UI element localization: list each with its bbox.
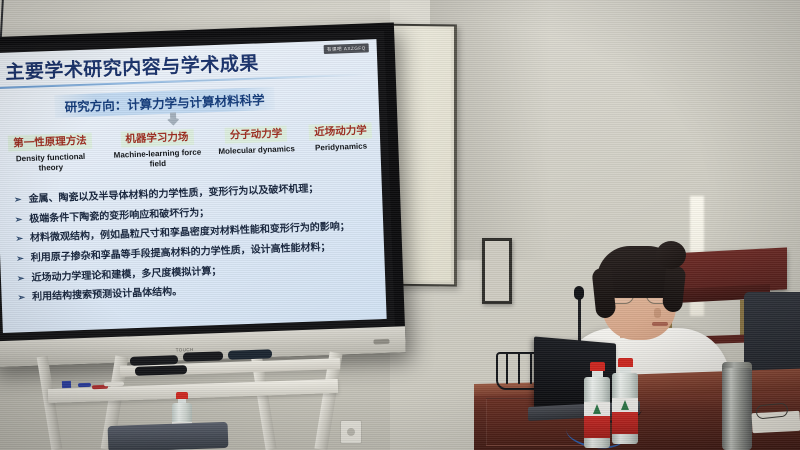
category-label-cn: 近场动力学	[309, 122, 372, 140]
bottle-cap	[176, 392, 188, 399]
presenter-mouth	[652, 322, 668, 326]
remote-control[interactable]	[135, 365, 187, 376]
category-item: 机器学习力场 Machine-learning force field	[111, 129, 204, 171]
pine-tree-icon	[621, 400, 629, 410]
slide-subtitle: 研究方向：计算力学与计算材料科学	[54, 87, 275, 118]
bottle-cap	[590, 362, 605, 371]
category-label-en: Molecular dynamics	[218, 144, 295, 156]
thermos-flask	[722, 368, 752, 450]
bullet-text: 极端条件下陶瓷的变形响应和破坏行为；	[29, 207, 209, 225]
remote-control[interactable]	[183, 351, 223, 361]
presenter-hair-right	[662, 265, 687, 313]
bullet-text: 金属、陶瓷以及半导体材料的力学性质，变形行为以及破坏机理；	[28, 183, 318, 205]
category-item: 第一性原理方法 Density functional theory	[4, 132, 97, 174]
pine-tree-icon	[593, 404, 601, 414]
arrow-head	[166, 118, 180, 126]
bullet-marker-icon: ➢	[15, 214, 23, 225]
water-bottle-1	[584, 362, 610, 448]
presenter-hair-bun	[656, 241, 686, 269]
category-label-cn: 机器学习力场	[120, 129, 194, 148]
watermark-badge: 有课吧 AXZGFQ	[324, 43, 369, 54]
bottle-cap	[618, 358, 633, 367]
category-label-cn: 第一性原理方法	[8, 133, 92, 152]
category-item: 分子动力学 Molecular dynamics	[218, 125, 295, 156]
equipment-case	[108, 422, 229, 450]
remote-control[interactable]	[130, 355, 178, 366]
bullet-marker-icon: ➢	[15, 234, 23, 245]
socket-hole-icon	[347, 428, 355, 436]
framed-picture	[482, 238, 512, 304]
category-item: 近场动力学 Peridynamics	[309, 122, 373, 153]
water-bottle-2	[612, 358, 638, 444]
marker-pen-blue[interactable]	[78, 383, 91, 387]
category-label-cn: 分子动力学	[225, 125, 288, 143]
power-socket[interactable]	[340, 420, 362, 444]
category-label-en: Density functional theory	[4, 152, 97, 175]
bullet-marker-icon: ➢	[16, 253, 24, 264]
bullet-marker-icon: ➢	[14, 194, 22, 205]
whiteboard-eraser[interactable]	[62, 381, 71, 388]
presentation-photo: 主要学术研究内容与学术成果 研究方向：计算力学与计算材料科学 第一性原理方法 D…	[0, 0, 800, 450]
bottle-label-red	[612, 412, 638, 434]
remote-control[interactable]	[228, 349, 272, 360]
bullet-text: 材料微观结构，例如晶粒尺寸和孪晶密度对材料性能和变形行为的影响；	[30, 222, 350, 245]
bullet-item: ➢ 利用结构搜索预测设计晶体结构。	[17, 280, 375, 304]
bullet-text: 近场动力学理论和建模，多尺度模拟计算；	[31, 266, 221, 284]
interactive-display[interactable]: 主要学术研究内容与学术成果 研究方向：计算力学与计算材料科学 第一性原理方法 D…	[0, 22, 406, 367]
bottle-label-red	[584, 416, 610, 438]
bullet-marker-icon: ➢	[17, 293, 25, 304]
marker-pen-white[interactable]	[104, 382, 124, 387]
ir-sensor-icon	[373, 339, 389, 345]
category-label-en: Peridynamics	[315, 142, 367, 153]
presentation-slide: 主要学术研究内容与学术成果 研究方向：计算力学与计算材料科学 第一性原理方法 D…	[0, 39, 387, 333]
bullet-text: 利用原子掺杂和孪晶等手段提高材料的力学性质，设计高性能材料；	[31, 242, 331, 264]
category-row: 第一性原理方法 Density functional theory 机器学习力场…	[4, 122, 373, 174]
bullet-text: 利用结构搜索预测设计晶体结构。	[32, 287, 182, 304]
microphone-head	[574, 286, 584, 300]
bullet-list: ➢ 金属、陶瓷以及半导体材料的力学性质，变形行为以及破坏机理； ➢ 极端条件下陶…	[14, 181, 376, 304]
category-label-en: Machine-learning force field	[111, 148, 204, 171]
bullet-marker-icon: ➢	[17, 273, 25, 284]
presenter-nose	[654, 308, 661, 318]
